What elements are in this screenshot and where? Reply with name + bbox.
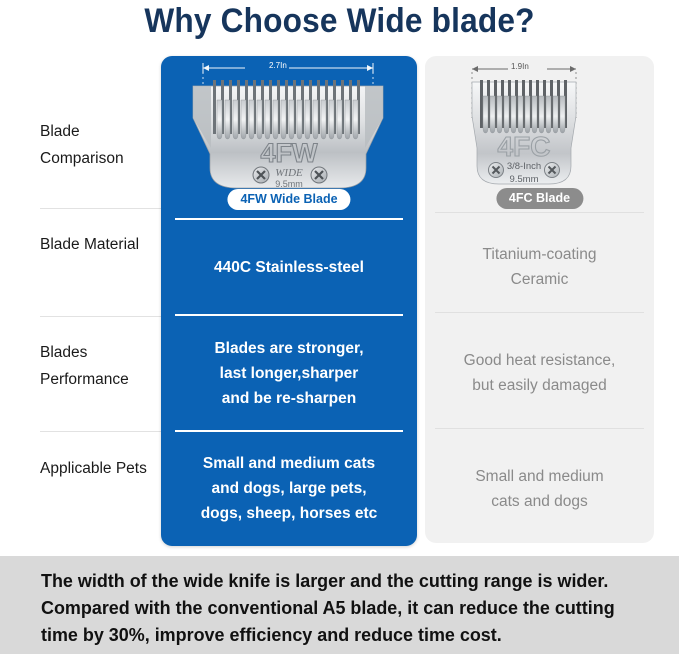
text-line: last longer,sharper: [214, 361, 363, 386]
text-line: dogs, sheep, horses etc: [201, 501, 378, 526]
cell-wide-performance: Blades are stronger, last longer,sharper…: [161, 315, 417, 431]
standard-pets-text: Small and medium cats and dogs: [475, 464, 603, 514]
row-label-applicable-pets: Applicable Pets: [40, 455, 158, 482]
standard-blade-badge: 4FC Blade: [496, 188, 583, 209]
row-label-column: Blade Comparison Blade Material Blades P…: [0, 56, 161, 548]
standard-blade-engraving-sub: 3/8-Inch: [507, 161, 541, 172]
wide-blade-engraving: 4FW: [261, 138, 319, 168]
screw-icon: [311, 167, 327, 183]
row-label-blades-performance: Blades Performance: [40, 339, 158, 393]
standard-blade-illustration: 4FC 3/8-Inch 9.5mm 1.9In 4FC Blade: [425, 56, 654, 219]
column-standard-blade[interactable]: 4FC 3/8-Inch 9.5mm 1.9In 4FC Blade: [425, 56, 654, 543]
wide-pets-text: Small and medium cats and dogs, large pe…: [201, 451, 378, 526]
text-line: Blades are stronger,: [214, 336, 363, 361]
row-label-blade-comparison: Blade Comparison: [40, 118, 158, 172]
row-divider: [40, 316, 161, 317]
wide-blade-illustration: 4FW WIDE 9.5mm 2.7In 4FW Wide Blade: [161, 56, 417, 219]
wide-blade-engraving-size: 9.5mm: [275, 179, 303, 189]
text-line: Ceramic: [482, 267, 596, 292]
standard-blade-engraving-size: 9.5mm: [509, 174, 538, 185]
comparison-infographic: Why Choose Wide blade? Blade Comparison …: [0, 0, 679, 654]
column-divider: [435, 212, 644, 213]
wide-blade-dimension: 2.7In: [269, 61, 287, 70]
row-divider: [40, 431, 161, 432]
wide-blade-badge: 4FW Wide Blade: [227, 189, 350, 210]
standard-performance-text: Good heat resistance, but easily damaged: [464, 348, 616, 398]
screw-icon: [489, 163, 504, 178]
screw-icon: [545, 163, 560, 178]
comparison-table: Blade Comparison Blade Material Blades P…: [0, 56, 679, 548]
wide-performance-text: Blades are stronger, last longer,sharper…: [214, 336, 363, 411]
text-line: Good heat resistance,: [464, 348, 616, 373]
column-wide-blade[interactable]: 4FW WIDE 9.5mm 2.7In 4FW Wide Blade: [161, 56, 417, 546]
text-line: but easily damaged: [464, 373, 616, 398]
text-line: cats and dogs: [475, 489, 603, 514]
standard-blade-dimension: 1.9In: [511, 62, 529, 71]
row-divider: [40, 208, 161, 209]
text-line: Small and medium: [475, 464, 603, 489]
text-line: Small and medium cats: [201, 451, 378, 476]
cell-standard-pets: Small and medium cats and dogs: [425, 431, 654, 543]
cell-standard-performance: Good heat resistance, but easily damaged: [425, 315, 654, 431]
cell-wide-material: 440C Stainless-steel: [161, 219, 417, 315]
cell-wide-pets: Small and medium cats and dogs, large pe…: [161, 431, 417, 546]
cell-standard-material: Titanium-coating Ceramic: [425, 219, 654, 315]
wide-blade-engraving-sub: WIDE: [275, 167, 303, 179]
row-label-blade-material: Blade Material: [40, 231, 158, 258]
text-line: Titanium-coating: [482, 242, 596, 267]
page-title: Why Choose Wide blade?: [24, 2, 655, 41]
screw-icon: [253, 167, 269, 183]
standard-blade-engraving: 4FC: [498, 131, 551, 162]
footer-text: The width of the wide knife is larger an…: [41, 567, 629, 648]
standard-material-text: Titanium-coating Ceramic: [482, 242, 596, 292]
text-line: and be re-sharpen: [214, 386, 363, 411]
text-line: and dogs, large pets,: [201, 476, 378, 501]
footer-band: The width of the wide knife is larger an…: [0, 556, 679, 654]
wide-material-text: 440C Stainless-steel: [214, 255, 364, 280]
